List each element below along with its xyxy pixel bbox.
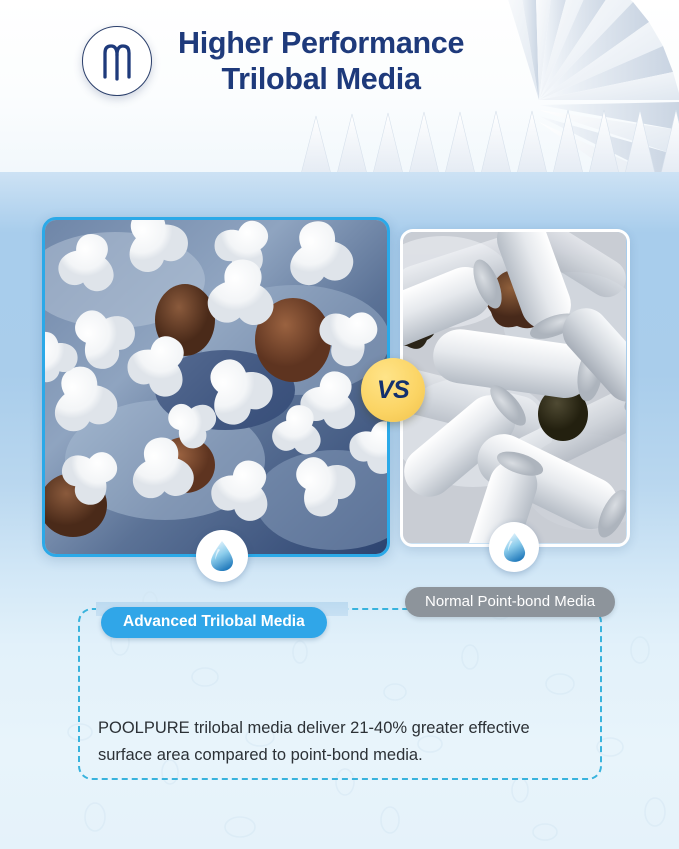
comparison-section: VS <box>0 172 679 849</box>
label-advanced-trilobal-media-text: Advanced Trilobal Media <box>123 613 305 631</box>
trilobal-fiber-logo-icon <box>97 39 137 83</box>
label-normal-point-bond-media-text: Normal Point-bond Media <box>425 593 595 610</box>
point-bond-media-image[interactable] <box>400 229 630 547</box>
versus-label: VS <box>377 376 409 405</box>
water-drop-badge-left <box>196 530 248 582</box>
trilobal-media-image[interactable] <box>42 217 390 557</box>
water-drop-icon <box>209 540 235 572</box>
brand-logo-badge <box>82 26 152 96</box>
title-line-1: Higher Performance <box>178 26 464 60</box>
pleat-teeth-band-graphic <box>0 108 679 172</box>
label-normal-point-bond-media[interactable]: Normal Point-bond Media <box>405 587 615 617</box>
page-title: Higher Performance Trilobal Media <box>178 26 464 96</box>
water-drop-icon <box>502 532 527 563</box>
label-advanced-trilobal-media[interactable]: Advanced Trilobal Media <box>101 607 327 638</box>
water-drop-badge-right <box>489 522 539 572</box>
header-banner: Higher Performance Trilobal Media <box>0 0 679 172</box>
versus-badge: VS <box>361 358 425 422</box>
callout-text: POOLPURE trilobal media deliver 21-40% g… <box>98 715 588 768</box>
media-comparison-row: VS <box>0 172 679 592</box>
title-line-2: Trilobal Media <box>178 62 464 96</box>
